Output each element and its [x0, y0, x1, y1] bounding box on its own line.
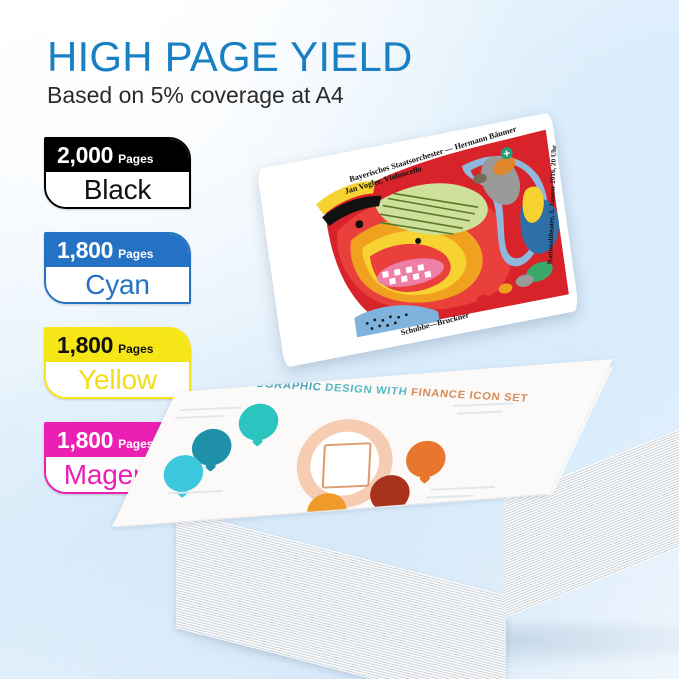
infographic-bubble-3	[163, 454, 204, 492]
infographic-text-line	[175, 415, 225, 419]
badge-color-name-black: Black	[84, 176, 151, 204]
product-infographic-canvas: HIGH PAGE YIELD Based on 5% coverage at …	[0, 0, 679, 679]
badge-pages-count-magenta: 1,800	[57, 429, 113, 452]
yield-badge-black: 2,000 Pages Black	[44, 137, 191, 209]
badge-bottom-band-cyan: Cyan	[46, 267, 189, 302]
infographic-title-part-1: INFOGRAPHIC	[234, 377, 322, 393]
infographic-text-line	[179, 406, 241, 411]
printed-infographic-sample: INFOGRAPHIC DESIGN WITH FINANCE ICON SET	[176, 392, 646, 542]
badge-color-name-yellow: Yellow	[78, 366, 157, 394]
badge-color-name-cyan: Cyan	[85, 271, 150, 299]
yield-badge-yellow: 1,800 Pages Yellow	[44, 327, 191, 399]
badge-pages-count-cyan: 1,800	[57, 239, 113, 262]
printed-poster-sample: BAYERISCHE STAATSOPER Bayerisches Staats…	[268, 132, 578, 372]
poster-sheet: BAYERISCHE STAATSOPER Bayerisches Staats…	[257, 112, 579, 368]
infographic-bubble-2	[238, 403, 279, 441]
badge-pages-count-black: 2,000	[57, 144, 113, 167]
infographic-title: INFOGRAPHIC DESIGN WITH FINANCE ICON SET	[234, 377, 528, 405]
yield-badge-cyan: 1,800 Pages Cyan	[44, 232, 191, 304]
badge-top-band-cyan: 1,800 Pages	[46, 234, 189, 267]
badge-bottom-band-yellow: Yellow	[46, 362, 189, 397]
badge-pages-word-black: Pages	[118, 153, 153, 165]
infographic-text-line	[453, 402, 513, 407]
badge-top-band-yellow: 1,800 Pages	[46, 329, 189, 362]
badge-bottom-band-black: Black	[46, 172, 189, 207]
badge-pages-count-yellow: 1,800	[57, 334, 113, 357]
infographic-bubble-4	[405, 440, 446, 478]
badge-pages-word-yellow: Pages	[118, 343, 153, 355]
badge-pages-word-cyan: Pages	[118, 248, 153, 260]
infographic-center-icon	[322, 442, 372, 488]
abstract-pop-art-illustration	[312, 129, 571, 341]
infographic-title-part-2: DESIGN WITH	[324, 382, 408, 398]
poster-artwork	[312, 129, 571, 341]
infographic-text-line	[426, 495, 474, 499]
infographic-text-line	[457, 411, 503, 415]
infographic-text-line	[430, 486, 495, 491]
page-subtitle: Based on 5% coverage at A4	[47, 84, 344, 107]
page-title: HIGH PAGE YIELD	[47, 36, 413, 78]
badge-top-band-black: 2,000 Pages	[46, 139, 189, 172]
